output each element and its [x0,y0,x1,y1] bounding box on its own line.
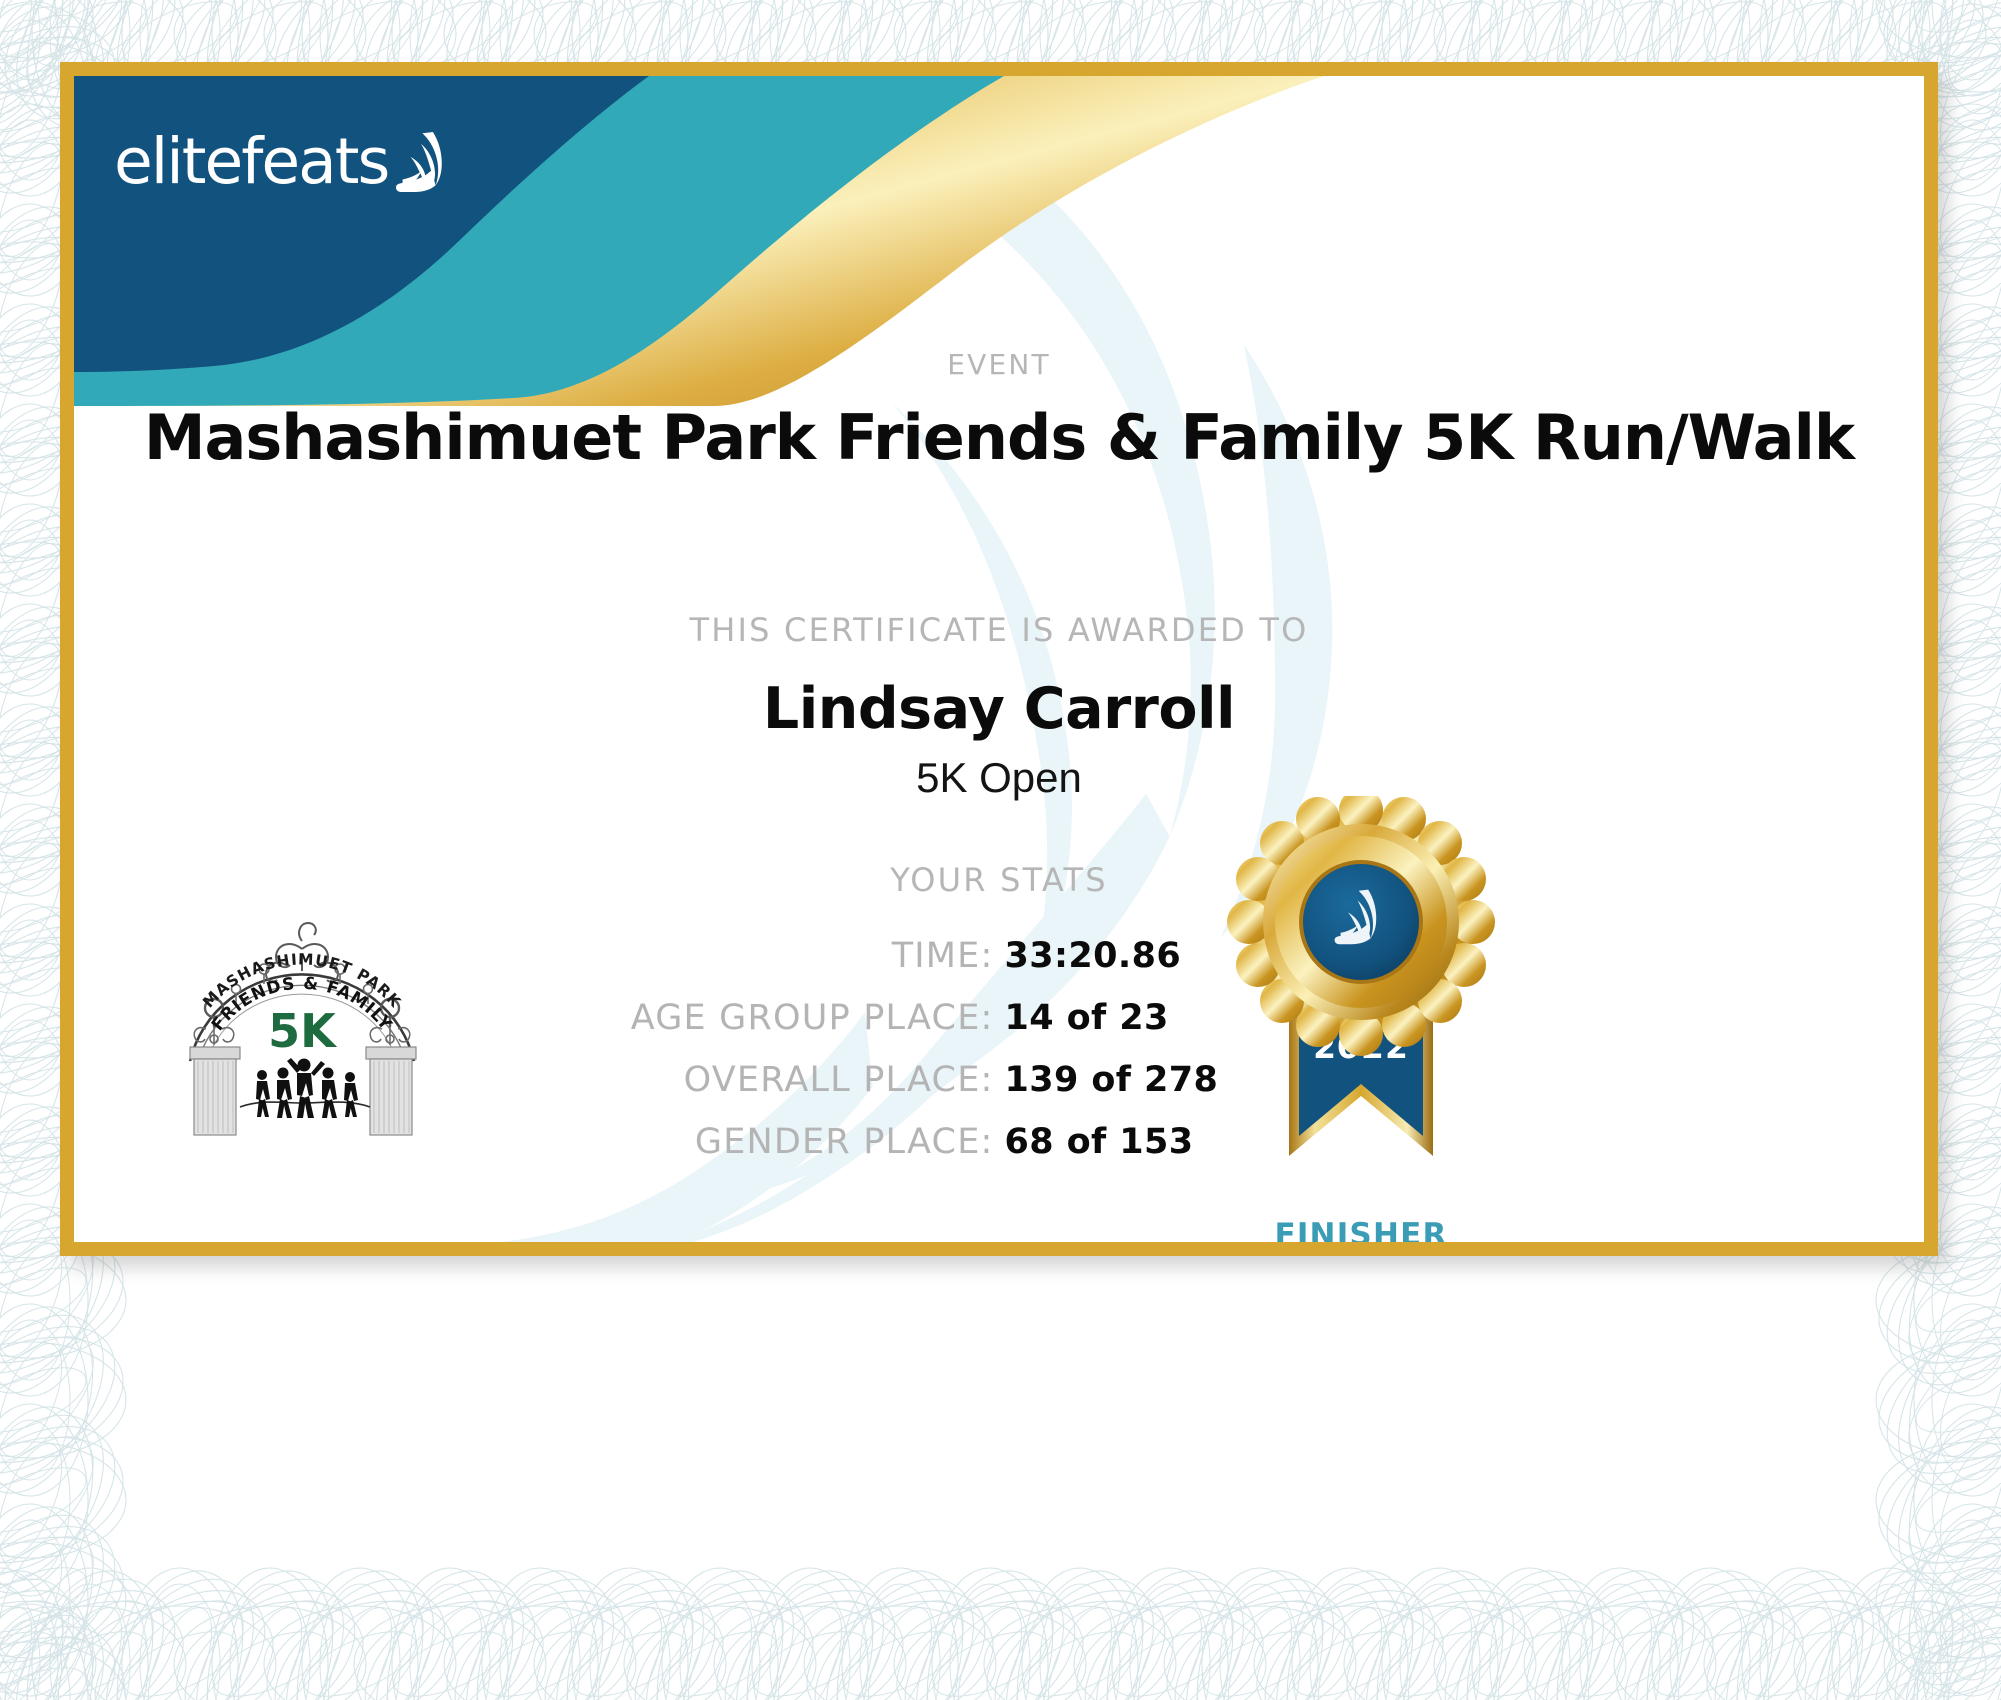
elitefeats-wordmark: elitefeats [114,130,388,193]
stat-key: TIME: [434,936,1005,976]
certificate-page: elitefeats EVENT Mashashimuet Park Frien… [0,0,2001,1700]
medal-badge [1227,796,1495,1056]
finisher-medal-block: 2022 [1206,796,1516,1256]
awarded-to-label: THIS CERTIFICATE IS AWARDED TO [74,611,1924,649]
stat-key: OVERALL PLACE: [434,1060,1005,1100]
event-title: Mashashimuet Park Friends & Family 5K Ru… [74,401,1924,474]
certificate-frame: elitefeats EVENT Mashashimuet Park Frien… [60,62,1938,1256]
arch-distance-text: 5K [268,1004,338,1058]
stat-key: GENDER PLACE: [434,1122,1005,1162]
park-arch-runners-icon: MASHASHIMUET PARK FRIENDS & FAMILY 5K [152,911,452,1141]
winged-foot-icon [392,128,458,194]
division-name: 5K Open [74,754,1924,802]
finisher-caption-line1: FINISHER [1206,1218,1516,1253]
gold-medal-ribbon-icon: 2022 [1227,796,1495,1216]
event-label: EVENT [74,348,1924,381]
stat-key: AGE GROUP PLACE: [434,998,1005,1038]
elitefeats-logo: elitefeats [114,128,458,194]
stats-heading: YOUR STATS [74,861,1924,899]
finisher-caption-line2: CERTIFICATE [1206,1253,1516,1256]
recipient-name: Lindsay Carroll [74,676,1924,742]
finisher-caption: FINISHER CERTIFICATE [1206,1218,1516,1256]
